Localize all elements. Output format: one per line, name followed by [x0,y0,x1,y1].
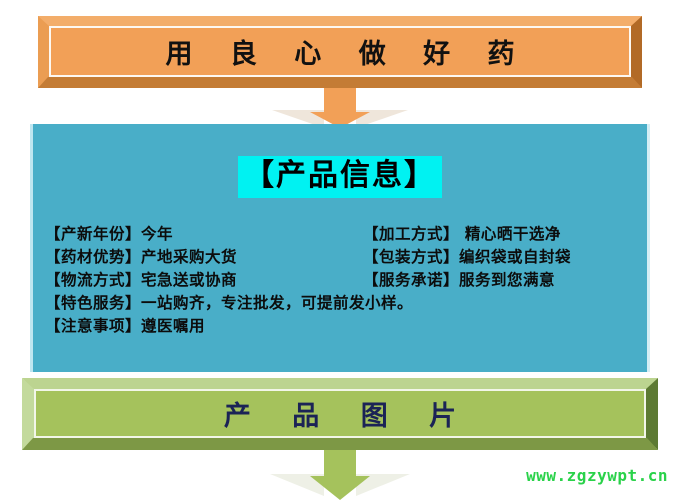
product-images-banner: 产 品 图 片 [22,378,658,450]
info-cell-left: 【产新年份】今年 [45,222,363,244]
info-key: 【特色服务】 [45,293,141,312]
info-key: 【服务承诺】 [363,270,459,289]
info-cell-right: 【包装方式】编织袋或自封袋 [363,245,639,267]
product-info-title: 【产品信息】 [238,156,442,198]
top-slogan-banner: 用 良 心 做 好 药 [38,16,642,88]
info-cell-left: 【注意事项】遵医嘱用 [45,314,205,336]
info-cell-left: 【物流方式】宅急送或协商 [45,268,363,290]
product-images-text: 产 品 图 片 [208,394,472,433]
bevel-left-edge [38,16,49,88]
info-value: 宅急送或协商 [141,270,237,289]
info-key: 【产新年份】 [45,224,141,243]
info-row: 【物流方式】宅急送或协商 【服务承诺】服务到您满意 [45,268,639,291]
info-value: 今年 [141,224,173,243]
bevel-top-edge [22,378,658,389]
product-info-title-wrap: 【产品信息】 [33,156,647,198]
info-key: 【药材优势】 [45,247,141,266]
bevel-bottom-edge [38,77,642,88]
info-row: 【特色服务】一站购齐，专注批发，可提前发小样。 [45,291,639,314]
info-value: 编织袋或自封袋 [459,247,571,266]
info-value: 遵医嘱用 [141,316,205,335]
info-key: 【注意事项】 [45,316,141,335]
top-slogan-text: 用 良 心 做 好 药 [152,32,529,71]
bevel-top-edge [38,16,642,26]
down-arrow-orange-icon [310,88,370,128]
info-key: 【包装方式】 [363,247,459,266]
info-value: 一站购齐，专注批发，可提前发小样。 [141,293,413,312]
info-cell-right: 【服务承诺】服务到您满意 [363,268,639,290]
product-info-panel: 【产品信息】 【产新年份】今年 【加工方式】 精心晒干选净 【药材优势】产地采购… [30,124,650,372]
info-key: 【物流方式】 [45,270,141,289]
down-arrow-green-icon [310,450,370,500]
info-cell-left: 【特色服务】一站购齐，专注批发，可提前发小样。 [45,291,413,313]
bevel-bottom-edge [22,438,658,450]
info-cell-left: 【药材优势】产地采购大货 [45,245,363,267]
info-row: 【注意事项】遵医嘱用 [45,314,639,337]
info-value: 精心晒干选净 [459,224,561,243]
info-value: 产地采购大货 [141,247,237,266]
banner-face: 用 良 心 做 好 药 [49,26,631,77]
site-watermark: www.zgzywpt.cn [526,466,668,485]
bevel-right-edge [631,16,642,88]
info-key: 【加工方式】 [363,224,459,243]
info-row: 【药材优势】产地采购大货 【包装方式】编织袋或自封袋 [45,245,639,268]
info-row: 【产新年份】今年 【加工方式】 精心晒干选净 [45,222,639,245]
banner-face: 产 品 图 片 [34,389,646,438]
info-value: 服务到您满意 [459,270,555,289]
arrow-shaft [324,88,356,114]
info-cell-right: 【加工方式】 精心晒干选净 [363,222,639,244]
arrow-shaft [324,450,356,478]
product-info-rows: 【产新年份】今年 【加工方式】 精心晒干选净 【药材优势】产地采购大货 【包装方… [45,222,639,337]
